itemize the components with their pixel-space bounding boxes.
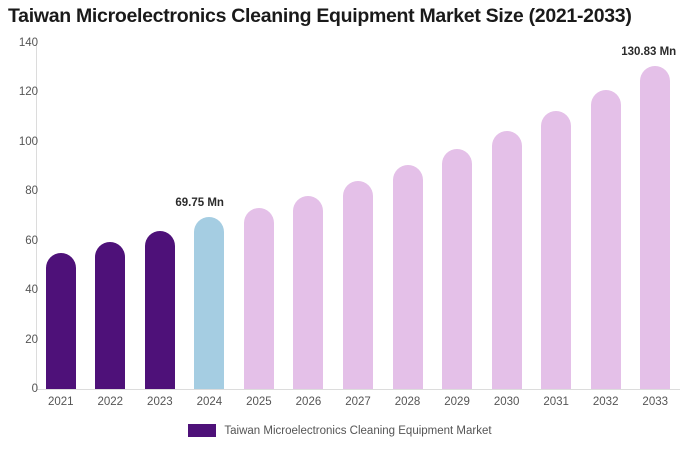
bar[interactable] — [442, 149, 472, 389]
y-axis-tick-label: 140 — [2, 37, 38, 49]
bar-value-label: 130.83 Mn — [621, 46, 676, 58]
y-axis-tick-label: 60 — [2, 235, 38, 247]
x-axis-tick-label: 2031 — [531, 396, 581, 408]
bar[interactable] — [46, 253, 76, 389]
y-axis-tick-label: 40 — [2, 284, 38, 296]
x-axis-tick-label: 2030 — [482, 396, 532, 408]
x-axis-tick-label: 2024 — [184, 396, 234, 408]
legend-entry[interactable]: Taiwan Microelectronics Cleaning Equipme… — [188, 424, 491, 437]
x-axis-tick-label: 2022 — [85, 396, 135, 408]
bar[interactable] — [244, 208, 274, 389]
legend-color-swatch — [188, 424, 216, 437]
x-axis-tick-label: 2027 — [333, 396, 383, 408]
chart-title: Taiwan Microelectronics Cleaning Equipme… — [8, 5, 632, 28]
bar[interactable] — [293, 196, 323, 389]
chart-legend: Taiwan Microelectronics Cleaning Equipme… — [0, 424, 680, 437]
x-axis-line — [36, 389, 680, 390]
bar[interactable] — [640, 66, 670, 389]
y-axis-tick-label: 120 — [2, 86, 38, 98]
y-axis-tick-label: 20 — [2, 334, 38, 346]
bar[interactable] — [343, 181, 373, 389]
bar-chart: Taiwan Microelectronics Cleaning Equipme… — [0, 0, 680, 450]
bar[interactable] — [95, 242, 125, 389]
x-axis-tick-label: 2025 — [234, 396, 284, 408]
y-axis-tick-label: 0 — [2, 383, 38, 395]
x-axis-tick-label: 2021 — [36, 396, 86, 408]
y-axis-tick-label: 100 — [2, 136, 38, 148]
x-axis-tick-label: 2032 — [581, 396, 631, 408]
bar[interactable] — [145, 231, 175, 389]
x-axis-tick-label: 2028 — [383, 396, 433, 408]
bar-value-label: 69.75 Mn — [175, 197, 224, 209]
bar[interactable] — [393, 165, 423, 389]
x-axis-tick-label: 2033 — [630, 396, 680, 408]
plot-area: 69.75 Mn130.83 Mn — [36, 43, 680, 389]
x-axis-tick-label: 2029 — [432, 396, 482, 408]
bar[interactable] — [492, 131, 522, 389]
bar[interactable] — [591, 90, 621, 389]
bar[interactable] — [194, 217, 224, 389]
legend-label: Taiwan Microelectronics Cleaning Equipme… — [224, 425, 491, 437]
y-axis-tick-label: 80 — [2, 185, 38, 197]
x-axis-tick-label: 2026 — [283, 396, 333, 408]
x-axis-tick-label: 2023 — [135, 396, 185, 408]
bar[interactable] — [541, 111, 571, 389]
